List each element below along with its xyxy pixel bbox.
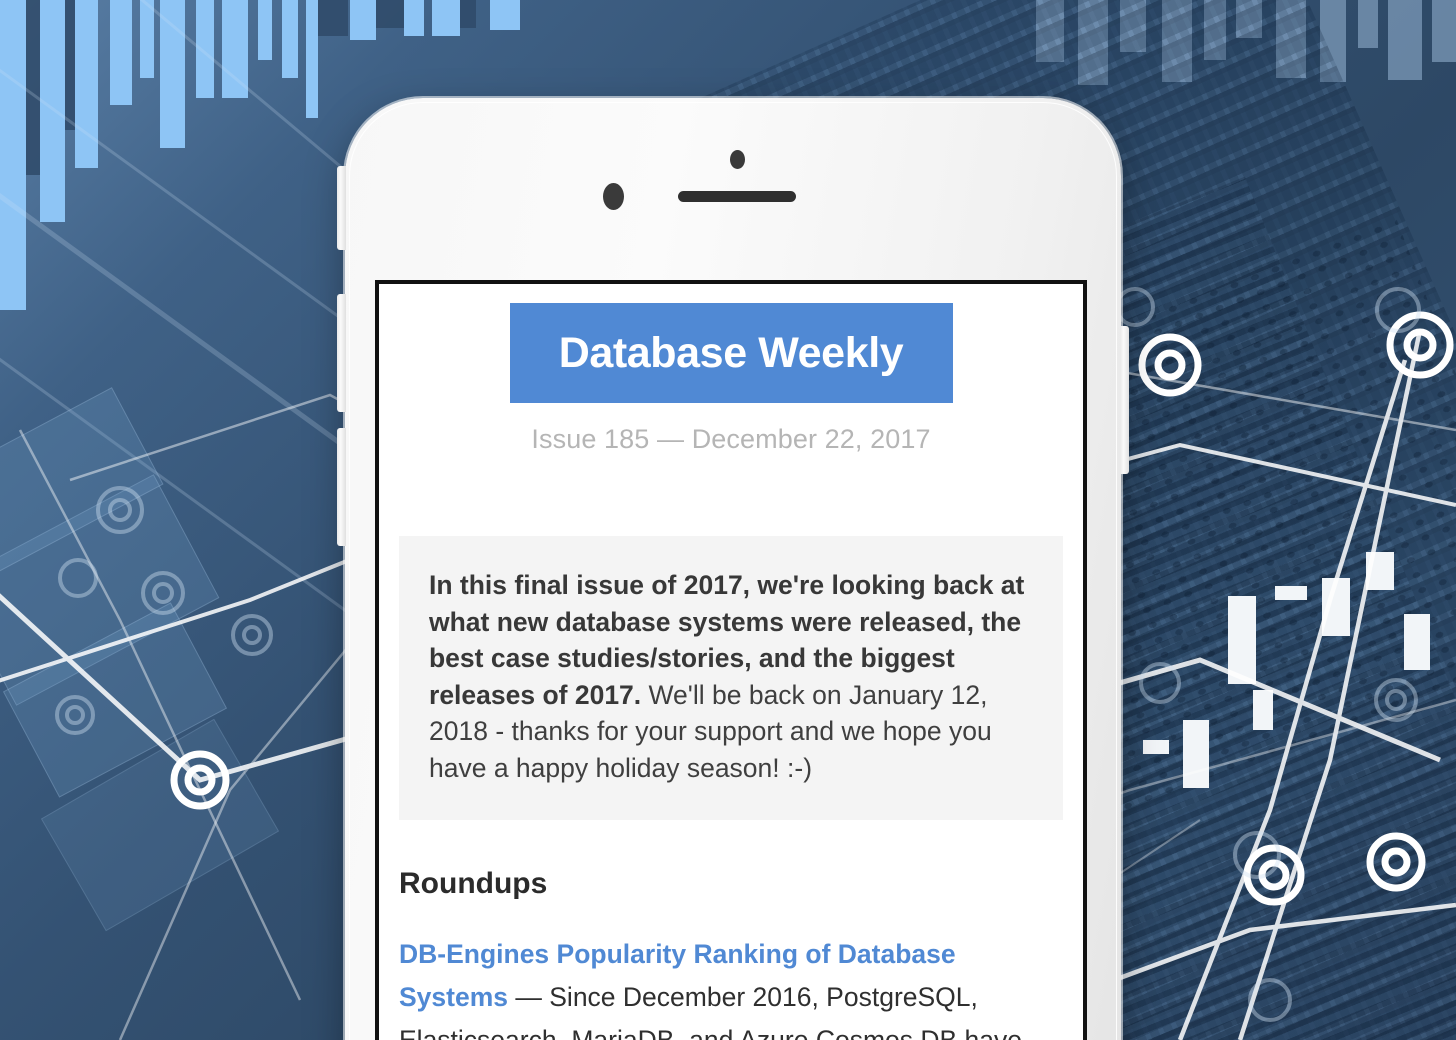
proximity-sensor-icon — [603, 183, 624, 210]
phone-screen: Database Weekly Issue 185 — December 22,… — [375, 280, 1087, 1040]
issue-date-line: Issue 185 — December 22, 2017 — [399, 424, 1063, 455]
phone-device-frame: Database Weekly Issue 185 — December 22,… — [345, 98, 1121, 1040]
earpiece-speaker-icon — [678, 191, 796, 202]
newsletter-body: Database Weekly Issue 185 — December 22,… — [379, 303, 1083, 1040]
volume-up-button[interactable] — [337, 294, 346, 412]
volume-down-button[interactable] — [337, 428, 346, 546]
screenshot-root: Database Weekly Issue 185 — December 22,… — [0, 0, 1456, 1040]
newsletter-masthead: Database Weekly — [510, 303, 953, 403]
camera-dot-icon — [730, 150, 745, 169]
intro-paragraph: In this final issue of 2017, we're looki… — [429, 567, 1033, 786]
email-newsletter-viewport[interactable]: Database Weekly Issue 185 — December 22,… — [379, 284, 1083, 1040]
page-title: Database Weekly — [559, 332, 904, 375]
section-heading-roundups: Roundups — [399, 867, 1063, 901]
article-separator: — — [508, 982, 549, 1012]
power-button[interactable] — [1120, 326, 1129, 474]
silent-switch[interactable] — [337, 166, 346, 250]
list-item: DB-Engines Popularity Ranking of Databas… — [399, 933, 1063, 1040]
intro-callout-box: In this final issue of 2017, we're looki… — [399, 536, 1063, 820]
